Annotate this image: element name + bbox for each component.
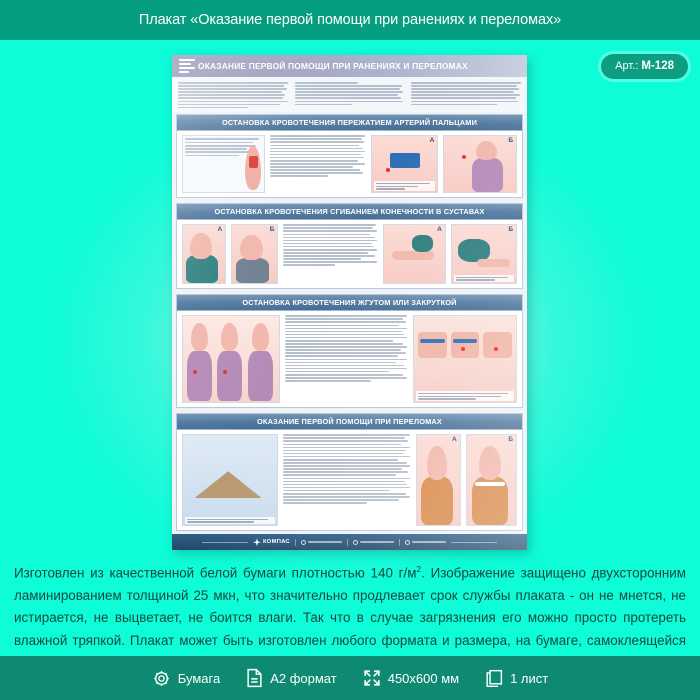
section-1-label-b: Б (508, 137, 513, 144)
page-title: Плакат «Оказание первой помощи при ранен… (139, 12, 561, 28)
spec-item-material: Бумага (152, 669, 220, 688)
brand-divider-3 (399, 539, 400, 546)
spec-label-format: А2 формат (270, 671, 337, 686)
brand-name: КОМПАС (263, 539, 290, 545)
brand-website (301, 540, 342, 545)
section-2-label-a: А (217, 226, 222, 233)
intro-column-2 (295, 82, 405, 108)
section-2-figure-a: А (182, 224, 226, 284)
poster-title-bar: ОКАЗАНИЕ ПЕРВОЙ ПОМОЩИ ПРИ РАНЕНИЯХ И ПЕ… (172, 55, 527, 77)
hamburger-lines-icon (176, 59, 198, 73)
section-4-figure-a: А (416, 434, 461, 526)
section-3-figure-tourniquet (182, 315, 280, 403)
brand-logo: КОМПАС (253, 538, 290, 546)
copies-icon (485, 669, 503, 688)
mail-icon (353, 540, 358, 545)
poster-brand-bar: КОМПАС (172, 534, 527, 550)
brand-email (353, 540, 394, 545)
section-4-label-b: Б (508, 436, 513, 443)
section-3-title: ОСТАНОВКА КРОВОТЕЧЕНИЯ ЖГУТОМ ИЛИ ЗАКРУТ… (177, 295, 522, 311)
description-part-1: Изготовлен из качественной белой бумаги … (14, 565, 416, 580)
gear-icon (152, 669, 171, 688)
section-4-figure-b: Б (466, 434, 517, 526)
brand-divider-2 (347, 539, 348, 546)
brand-rule-left (202, 542, 248, 543)
brand-divider-1 (295, 539, 296, 546)
description-part-2: . Изображение защищено двухсторонним лам… (14, 565, 686, 670)
poster-section-2: ОСТАНОВКА КРОВОТЕЧЕНИЯ СГИБАНИЕМ КОНЕЧНО… (176, 203, 523, 289)
article-badge: Арт.: М-128 (601, 54, 688, 79)
article-label: Арт.: (615, 60, 638, 72)
section-2-label-b2: Б (508, 226, 513, 233)
section-4-label-a: А (452, 436, 457, 443)
section-1-figure-anatomy (182, 135, 265, 193)
brand-phone (405, 540, 446, 545)
spec-item-format: А2 формат (246, 668, 337, 688)
compass-star-icon (253, 538, 261, 546)
section-1-text (270, 135, 366, 193)
resize-arrows-icon (363, 669, 381, 687)
section-2-label-b: Б (270, 226, 275, 233)
intro-column-1 (178, 82, 288, 108)
section-3-figure-steps (413, 315, 517, 403)
poster-preview[interactable]: ОКАЗАНИЕ ПЕРВОЙ ПОМОЩИ ПРИ РАНЕНИЯХ И ПЕ… (172, 55, 527, 550)
section-2-title: ОСТАНОВКА КРОВОТЕЧЕНИЯ СГИБАНИЕМ КОНЕЧНО… (177, 204, 522, 220)
poster-section-4: ОКАЗАНИЕ ПЕРВОЙ ПОМОЩИ ПРИ ПЕРЕЛОМАХ А (176, 413, 523, 531)
globe-icon (301, 540, 306, 545)
section-4-text (283, 434, 411, 526)
section-2-figure-c: А (383, 224, 446, 284)
section-2-text (283, 224, 377, 284)
poster-title: ОКАЗАНИЕ ПЕРВОЙ ПОМОЩИ ПРИ РАНЕНИЯХ И ПЕ… (198, 61, 468, 71)
brand-rule-right (451, 542, 497, 543)
section-1-title: ОСТАНОВКА КРОВОТЕЧЕНИЯ ПЕРЕЖАТИЕМ АРТЕРИ… (177, 115, 522, 131)
spec-item-size: 450х600 мм (363, 669, 459, 687)
phone-icon (405, 540, 410, 545)
section-1-label-a: А (430, 137, 435, 144)
poster-intro-text (172, 77, 527, 112)
section-2-figure-b: Б (231, 224, 278, 284)
page-header: Плакат «Оказание первой помощи при ранен… (0, 0, 700, 40)
intro-column-3 (411, 82, 521, 108)
spec-label-size: 450х600 мм (388, 671, 459, 686)
section-2-figure-d: Б (451, 224, 517, 284)
section-4-figure-splint (182, 434, 278, 526)
section-2-label-a2: А (437, 226, 442, 233)
poster-section-1: ОСТАНОВКА КРОВОТЕЧЕНИЯ ПЕРЕЖАТИЕМ АРТЕРИ… (176, 114, 523, 198)
section-1-figure-a: А (371, 135, 438, 193)
section-1-figure-b: Б (443, 135, 517, 193)
section-3-text (285, 315, 408, 403)
spec-label-material: Бумага (178, 671, 220, 686)
poster-section-3: ОСТАНОВКА КРОВОТЕЧЕНИЯ ЖГУТОМ ИЛИ ЗАКРУТ… (176, 294, 523, 408)
spec-label-quantity: 1 лист (510, 671, 548, 686)
spec-item-quantity: 1 лист (485, 669, 548, 688)
section-4-title: ОКАЗАНИЕ ПЕРВОЙ ПОМОЩИ ПРИ ПЕРЕЛОМАХ (177, 414, 522, 430)
document-icon (246, 668, 263, 688)
article-value: М-128 (641, 60, 674, 72)
specs-bar: Бумага А2 формат 450х600 мм (0, 656, 700, 700)
